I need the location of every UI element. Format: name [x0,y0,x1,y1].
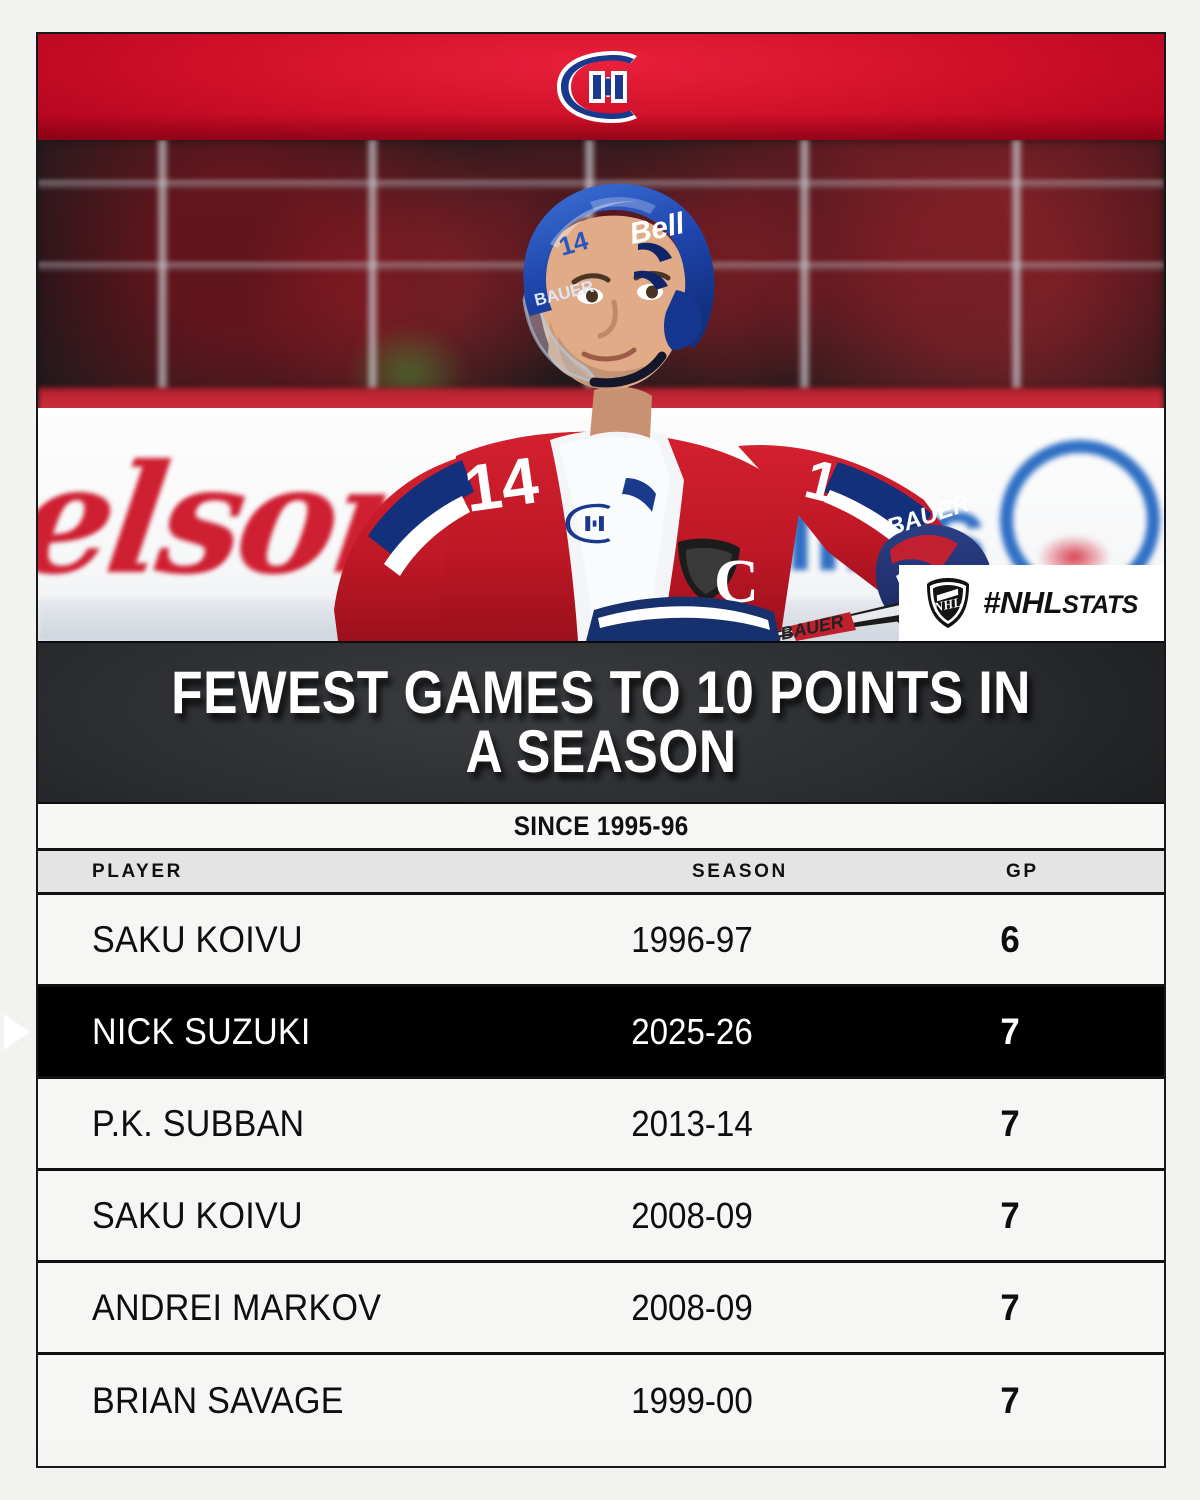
column-header-season: SEASON [692,861,788,883]
cell-season: 2013-14 [631,1103,753,1145]
nhl-shield-icon: NHL [925,577,971,629]
nhl-stats-badge: NHL #NHLSTATS [899,565,1164,641]
table-row-highlighted[interactable]: NICK SUZUKI 2025-26 7 [38,987,1164,1079]
player-photo: elson dailles [38,140,1164,641]
cell-player: ANDREI MARKOV [92,1287,381,1329]
cell-player: BRIAN SAVAGE [92,1380,344,1422]
svg-text:BAUER: BAUER [779,611,846,641]
cell-gp: 7 [1000,1103,1019,1145]
table-row[interactable]: SAKU KOIVU 2008-09 7 [38,1171,1164,1263]
stat-card: elson dailles [36,32,1166,1468]
stats-table: PLAYER SEASON GP SAKU KOIVU 1996-97 6 NI… [38,851,1164,1447]
triangle-right-icon [4,1014,30,1050]
cell-season: 2008-09 [631,1287,753,1329]
cell-gp: 7 [1000,1011,1019,1053]
svg-text:14: 14 [460,442,543,526]
cell-season: 1999-00 [631,1380,753,1422]
canadiens-ch-logo-icon [546,46,656,128]
cell-gp: 7 [1000,1287,1019,1329]
cell-season: 2025-26 [631,1011,753,1053]
cell-player: SAKU KOIVU [92,919,303,961]
table-header-row: PLAYER SEASON GP [38,851,1164,895]
subtitle-row: SINCE 1995-96 [38,804,1164,851]
cell-gp: 7 [1000,1380,1019,1422]
nhl-hashtag-stats: STATS [1062,591,1138,619]
nhl-hashtag-main: #NHL [983,585,1062,620]
table-row[interactable]: ANDREI MARKOV 2008-09 7 [38,1263,1164,1355]
headline-band: FEWEST GAMES TO 10 POINTS IN A SEASON [38,641,1164,804]
cell-season: 1996-97 [631,919,753,961]
table-row[interactable]: BRIAN SAVAGE 1999-00 7 [38,1355,1164,1447]
cell-player: SAKU KOIVU [92,1195,303,1237]
subtitle-text: SINCE 1995-96 [514,811,689,842]
page-title: FEWEST GAMES TO 10 POINTS IN A SEASON [168,664,1033,782]
cell-player: P.K. SUBBAN [92,1103,304,1145]
nhl-stats-wordmark: #NHLSTATS [983,585,1138,621]
column-header-gp: GP [1006,861,1039,883]
cell-season: 2008-09 [631,1195,753,1237]
team-header-bar [38,34,1164,140]
cell-gp: 6 [1000,919,1019,961]
column-header-player: PLAYER [92,861,183,883]
cell-player: NICK SUZUKI [92,1011,311,1053]
cell-gp: 7 [1000,1195,1019,1237]
table-row[interactable]: P.K. SUBBAN 2013-14 7 [38,1079,1164,1171]
table-row[interactable]: SAKU KOIVU 1996-97 6 [38,895,1164,987]
